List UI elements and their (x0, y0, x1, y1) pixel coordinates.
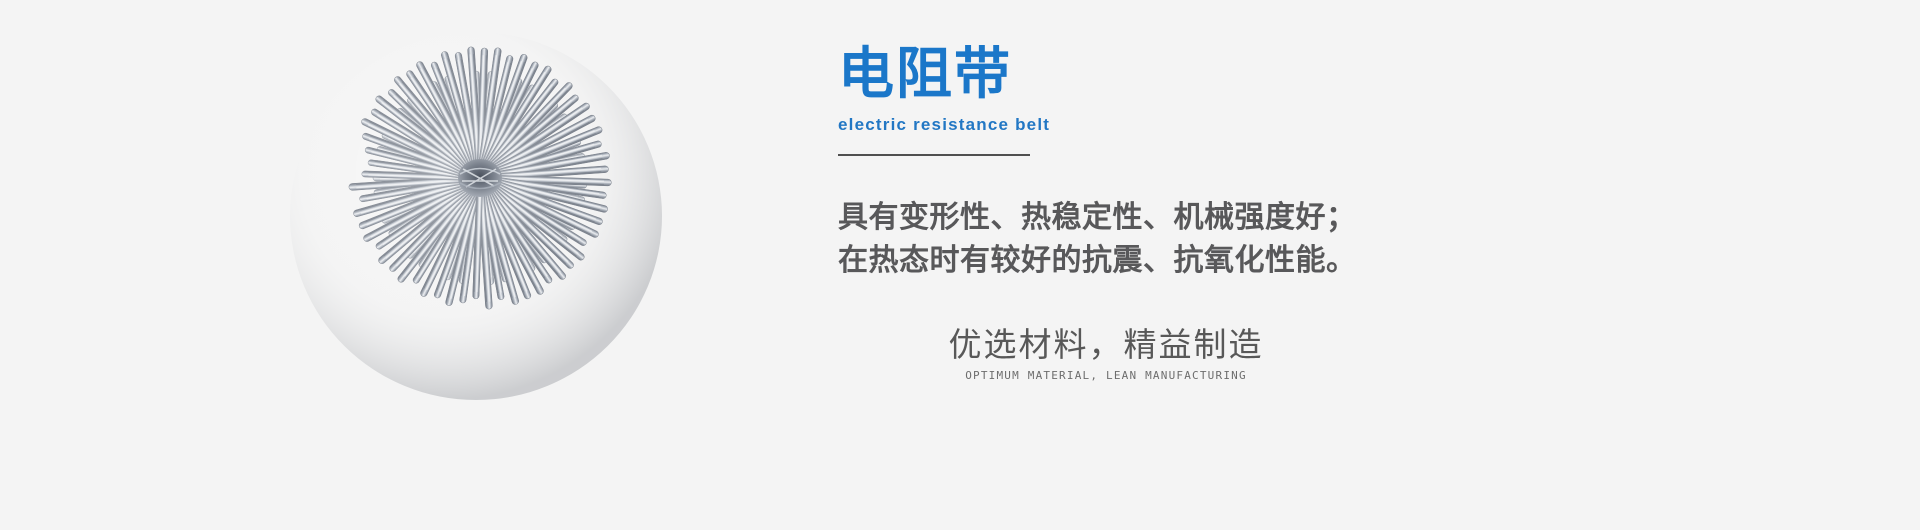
product-banner: 电阻带 electric resistance belt 具有变形性、热稳定性、… (0, 0, 1920, 530)
slogan-chinese: 优选材料，精益制造 (941, 325, 1271, 365)
page-subtitle: electric resistance belt (838, 114, 1050, 136)
description-text: 具有变形性、热稳定性、机械强度好； 在热态时有较好的抗震、抗氧化性能。 (838, 196, 1357, 282)
text-column: 电阻带 electric resistance belt 具有变形性、热稳定性、… (838, 44, 1838, 514)
product-image (280, 28, 680, 400)
slogan-english: OPTIMUM MATERIAL, LEAN MANUFACTURING (941, 368, 1271, 384)
page-title: 电阻带 (838, 44, 1050, 106)
description-line-1: 具有变形性、热稳定性、机械强度好； (838, 196, 1357, 239)
title-block: 电阻带 electric resistance belt (838, 44, 1050, 156)
description-line-2: 在热态时有较好的抗震、抗氧化性能。 (838, 239, 1357, 282)
slogan-block: 优选材料，精益制造 OPTIMUM MATERIAL, LEAN MANUFAC… (941, 325, 1271, 384)
title-divider (838, 154, 1030, 156)
